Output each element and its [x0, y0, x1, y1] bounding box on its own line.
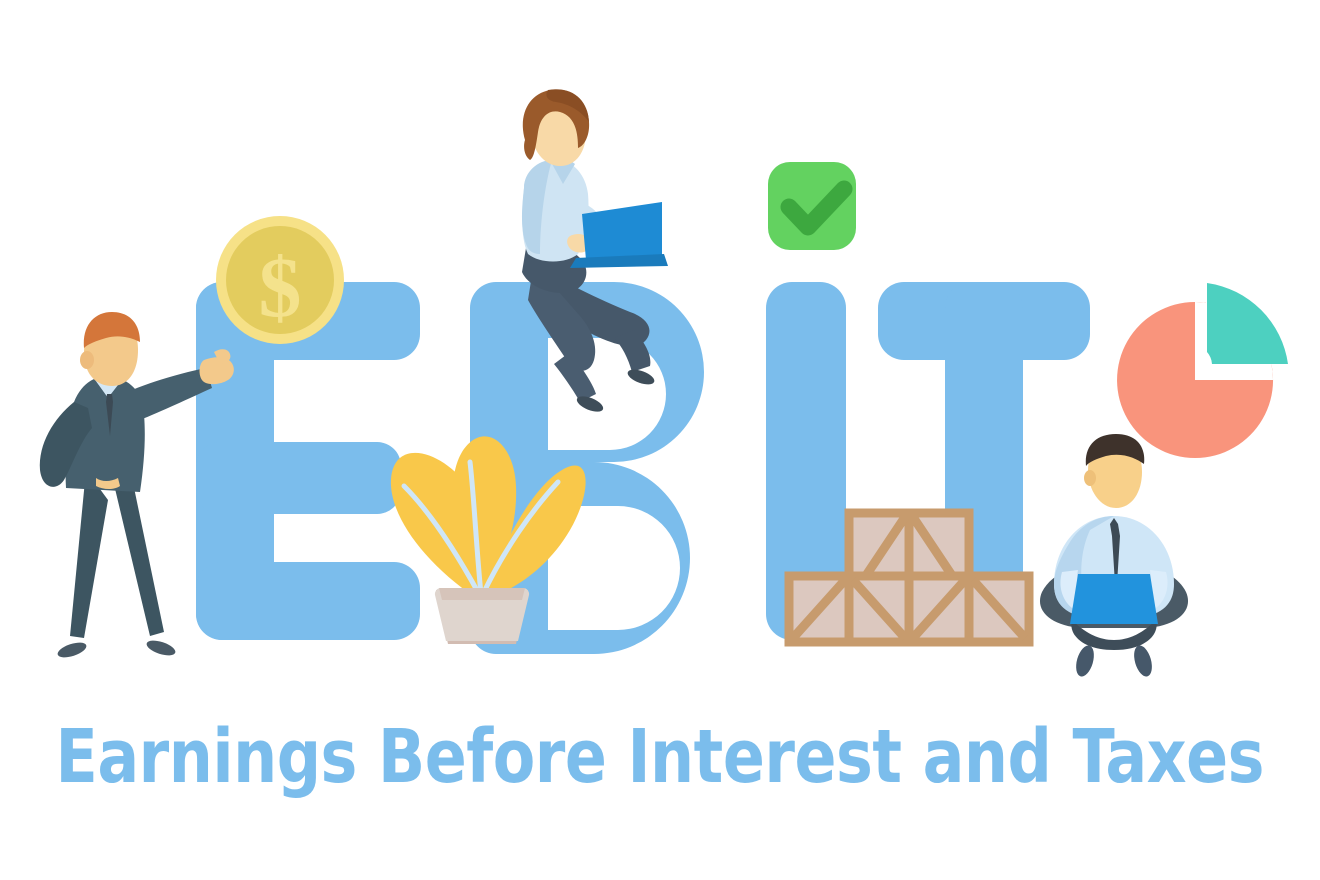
- crate-bottom-right: [909, 576, 1029, 642]
- plant-pot: [435, 588, 529, 644]
- svg-text:$: $: [259, 239, 302, 335]
- ebit-concept-illustration: $: [0, 0, 1320, 880]
- dollar-sign-icon: $: [259, 239, 302, 335]
- man-sitting-cross-legged-with-laptop: [1040, 434, 1188, 679]
- gold-dollar-coin: $: [216, 216, 344, 344]
- illustration-canvas: $: [0, 0, 1320, 880]
- crate-bottom-left: [789, 576, 909, 642]
- pie-chart: [1117, 283, 1288, 458]
- green-check-badge: [768, 162, 856, 250]
